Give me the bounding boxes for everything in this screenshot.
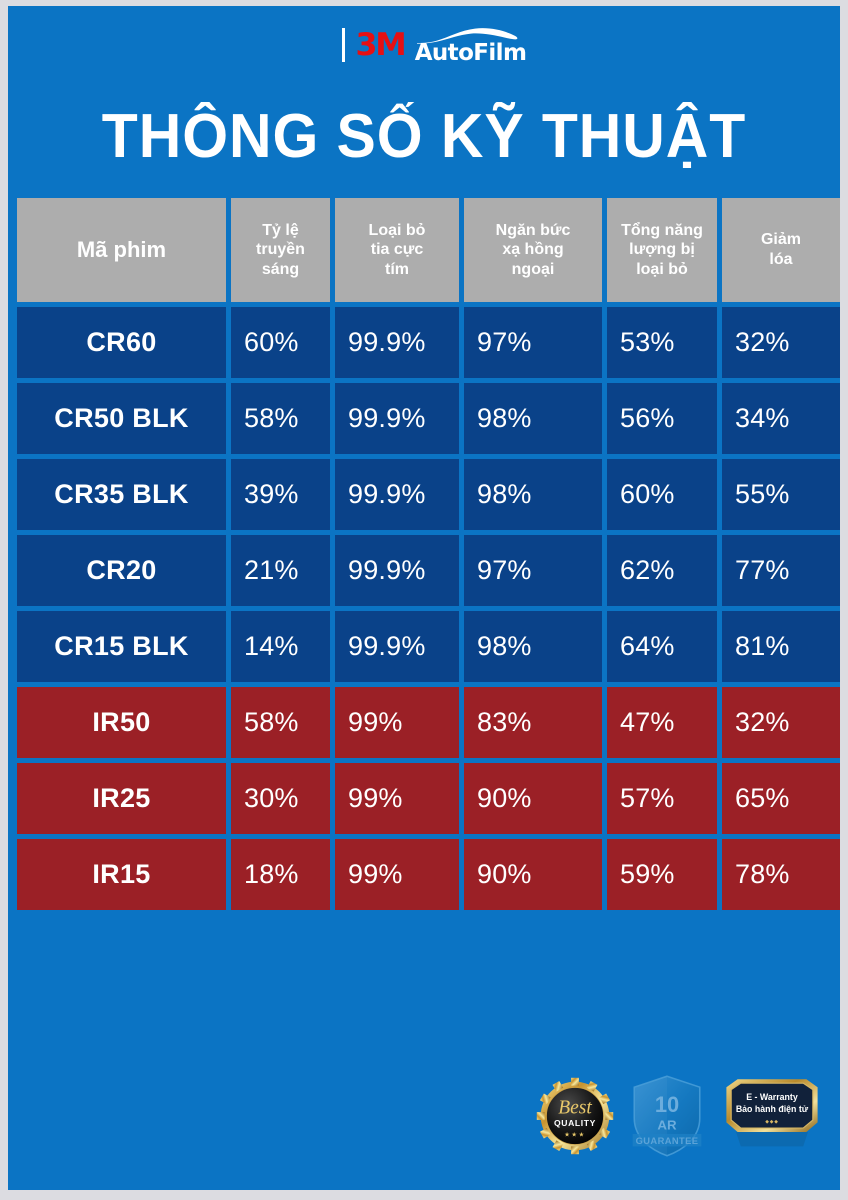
value-glare: 34% xyxy=(722,383,840,454)
page-frame: 3M AutoFilm THÔNG SỐ KỸ THUẬT Mã phim xyxy=(0,0,848,1200)
value-vlt: 39% xyxy=(231,459,330,530)
plaque-line1: E - Warranty xyxy=(746,1092,798,1102)
value-uv: 99% xyxy=(335,839,459,910)
value-ir: 98% xyxy=(464,383,602,454)
value-tser: 53% xyxy=(607,307,717,378)
plaque-line2: Bảo hành điện tử xyxy=(736,1104,809,1114)
value-vlt: 30% xyxy=(231,763,330,834)
value-tser: 62% xyxy=(607,535,717,606)
value-vlt: 21% xyxy=(231,535,330,606)
shield-label-line2: AR xyxy=(706,1073,707,1074)
value-uv: 99% xyxy=(335,763,459,834)
value-glare: 78% xyxy=(722,839,840,910)
guarantee-shield-icon: 10 AR GUARANTEE xyxy=(628,1073,706,1159)
value-tser: 47% xyxy=(607,687,717,758)
header-text: Loại bỏ tia cực tím xyxy=(369,221,426,280)
film-code: IR15 xyxy=(17,839,226,910)
value-vlt: 18% xyxy=(231,839,330,910)
column-header-tong-nang-luong-bi-loai-bo: Tổng năng lượng bị loại bỏ xyxy=(607,198,717,302)
table-row: IR15 18% 99% 90% 59% 78% xyxy=(17,839,831,910)
specifications-table: Mã phim Tỷ lệ truyền sáng Loại bỏ tia cự… xyxy=(17,198,831,910)
plaque-label-line1: E - Warranty xyxy=(824,1073,825,1074)
value-ir: 98% xyxy=(464,611,602,682)
value-ir: 83% xyxy=(464,687,602,758)
column-header-ngan-buc-xa-hong-ngoai: Ngăn bức xạ hồng ngoại xyxy=(464,198,602,302)
column-header-giam-loa: Giảm lóa xyxy=(722,198,840,302)
film-code: CR50 BLK xyxy=(17,383,226,454)
spec-sheet-panel: 3M AutoFilm THÔNG SỐ KỸ THUẬT Mã phim xyxy=(8,6,840,1190)
value-glare: 32% xyxy=(722,307,840,378)
header-text: Tỷ lệ truyền sáng xyxy=(256,221,305,280)
plaque-label-line2: Bảo hành điện tử xyxy=(824,1073,825,1074)
brand-logo: 3M AutoFilm xyxy=(342,26,527,65)
table-header-row: Mã phim Tỷ lệ truyền sáng Loại bỏ tia cự… xyxy=(17,198,831,302)
logo-divider-icon xyxy=(342,28,345,62)
value-ir: 90% xyxy=(464,839,602,910)
value-glare: 32% xyxy=(722,687,840,758)
shield-line3: GUARANTEE xyxy=(636,1136,699,1146)
value-glare: 55% xyxy=(722,459,840,530)
value-vlt: 58% xyxy=(231,383,330,454)
seal-label-line2: QUALITY xyxy=(614,1073,615,1074)
trust-badges: Best QUALITY ★★★ Best QUALITY xyxy=(536,1073,824,1164)
value-ir: 98% xyxy=(464,459,602,530)
header-line: Mã phim xyxy=(77,238,166,262)
value-tser: 57% xyxy=(607,763,717,834)
column-header-ty-le-truyen-sang: Tỷ lệ truyền sáng xyxy=(231,198,330,302)
e-warranty-plaque-icon: E - Warranty Bảo hành điện tử ◆◆◆ xyxy=(720,1073,824,1159)
table-row: CR35 BLK 39% 99.9% 98% 60% 55% xyxy=(17,459,831,530)
value-uv: 99.9% xyxy=(335,459,459,530)
value-uv: 99.9% xyxy=(335,611,459,682)
seal-stars: ★★★ xyxy=(564,1131,585,1138)
value-glare: 65% xyxy=(722,763,840,834)
table-row: CR20 21% 99.9% 97% 62% 77% xyxy=(17,535,831,606)
value-tser: 56% xyxy=(607,383,717,454)
column-header-ma-phim: Mã phim xyxy=(17,198,226,302)
value-tser: 64% xyxy=(607,611,717,682)
value-ir: 97% xyxy=(464,307,602,378)
value-uv: 99.9% xyxy=(335,535,459,606)
column-header-loai-bo-tia-cuc-tim: Loại bỏ tia cực tím xyxy=(335,198,459,302)
value-uv: 99.9% xyxy=(335,307,459,378)
shield-line2: AR xyxy=(657,1117,677,1132)
film-code: CR60 xyxy=(17,307,226,378)
brand-autofilm-text: AutoFilm xyxy=(415,42,527,65)
header-text: Ngăn bức xạ hồng ngoại xyxy=(496,221,571,280)
film-code: CR15 BLK xyxy=(17,611,226,682)
value-vlt: 60% xyxy=(231,307,330,378)
table-row: IR25 30% 99% 90% 57% 65% xyxy=(17,763,831,834)
table-row: CR50 BLK 58% 99.9% 98% 56% 34% xyxy=(17,383,831,454)
film-code: IR25 xyxy=(17,763,226,834)
brand-autofilm-lockup: AutoFilm xyxy=(415,26,527,65)
ten-year-guarantee-shield: 10 AR GUARANTEE 10 AR GUARANTEE xyxy=(628,1073,706,1164)
header-text: Tổng năng lượng bị loại bỏ xyxy=(621,221,703,280)
shield-line1: 10 xyxy=(655,1092,679,1117)
header-text: Giảm lóa xyxy=(761,230,801,269)
shield-label-line1: 10 xyxy=(706,1073,707,1074)
table-row: CR60 60% 99.9% 97% 53% 32% xyxy=(17,307,831,378)
value-uv: 99.9% xyxy=(335,383,459,454)
value-vlt: 14% xyxy=(231,611,330,682)
value-glare: 77% xyxy=(722,535,840,606)
e-warranty-plaque: E - Warranty Bảo hành điện tử ◆◆◆ E - Wa… xyxy=(720,1073,824,1164)
best-quality-seal: Best QUALITY ★★★ Best QUALITY xyxy=(536,1073,614,1164)
page-title: THÔNG SỐ KỸ THUẬT xyxy=(29,84,819,198)
value-ir: 90% xyxy=(464,763,602,834)
value-ir: 97% xyxy=(464,535,602,606)
best-quality-seal-icon: Best QUALITY ★★★ xyxy=(536,1073,614,1159)
film-code: IR50 xyxy=(17,687,226,758)
value-vlt: 58% xyxy=(231,687,330,758)
seal-line1: Best xyxy=(558,1098,592,1119)
seal-line2: QUALITY xyxy=(554,1118,596,1128)
film-code: CR35 BLK xyxy=(17,459,226,530)
seal-label-line1: Best xyxy=(614,1073,615,1074)
plaque-ornament: ◆◆◆ xyxy=(765,1119,778,1125)
brand-3m-wordmark: 3M xyxy=(355,30,404,61)
value-glare: 81% xyxy=(722,611,840,682)
table-row: IR50 58% 99% 83% 47% 32% xyxy=(17,687,831,758)
brand-header: 3M AutoFilm xyxy=(8,6,840,84)
value-uv: 99% xyxy=(335,687,459,758)
value-tser: 60% xyxy=(607,459,717,530)
value-tser: 59% xyxy=(607,839,717,910)
shield-label-line3: GUARANTEE xyxy=(706,1073,707,1074)
table-row: CR15 BLK 14% 99.9% 98% 64% 81% xyxy=(17,611,831,682)
film-code: CR20 xyxy=(17,535,226,606)
